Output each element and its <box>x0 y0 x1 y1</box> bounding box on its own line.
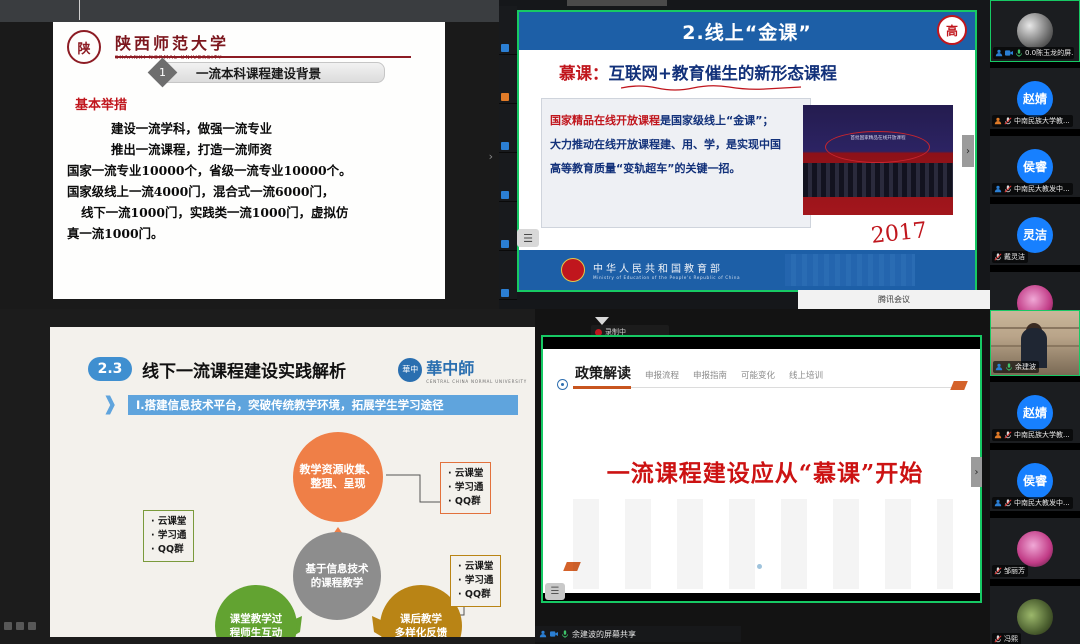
text-caret <box>79 0 80 20</box>
photo-crowd <box>803 163 953 197</box>
mic-muted-icon <box>1004 431 1012 439</box>
section-title: 一流本科课程建设背景 <box>196 63 321 82</box>
nav-item[interactable]: 申报流程 <box>645 369 679 381</box>
tool-item: 学习通 <box>448 481 483 495</box>
participant-name: 中南民族大学教... <box>1014 430 1070 440</box>
participant-name: 余建波 <box>1015 362 1036 372</box>
tool-box-orange: 云课堂 学习通 QQ群 <box>440 462 491 514</box>
screen-share-frame: 2.线上“金课” 高 慕课：互联网+教育催生的新形态课程 国家精品在线开放课程是… <box>517 10 977 292</box>
dropdown-caret-icon[interactable] <box>595 317 609 325</box>
circle-orange-line-2: 整理、呈现 <box>311 477 366 491</box>
nested-tile <box>499 55 517 104</box>
slide-body: 慕课：互联网+教育催生的新形态课程 国家精品在线开放课程是国家级线上“金课”； … <box>519 50 975 250</box>
circle-gray-line-1: 基于信息技术 <box>306 562 369 576</box>
mic-muted-icon <box>994 635 1002 643</box>
slide-marker-icon <box>557 379 568 390</box>
user-icon <box>501 44 509 52</box>
tool-item: QQ群 <box>151 543 186 557</box>
tool-item: QQ群 <box>448 495 483 509</box>
mooc-headline-prefix: 慕课： <box>559 64 609 83</box>
mic-icon <box>1005 363 1013 371</box>
avatar: 侯睿 <box>1017 149 1053 185</box>
participant-name: 0.0陈玉龙的屏... <box>1025 48 1074 58</box>
participant-nameplate: 余建波 <box>993 361 1039 373</box>
snnu-name-cn: 陕西师范大学 <box>115 30 229 54</box>
mic-muted-icon <box>994 567 1002 575</box>
body-line-6: 真一流1000门。 <box>67 223 435 244</box>
body-line-3: 国家一流专业10000个，省级一流专业10000个。 <box>67 160 435 181</box>
participant-rail-bottom[interactable]: 余建波 赵婧 中南民族大学教... 侯睿 中南民大教发中... <box>990 310 1080 644</box>
tencent-meeting-watermark: 腾讯会议 <box>798 290 990 309</box>
callout-rest-1: 是国家级线上“金课”； <box>660 114 773 127</box>
participant-nameplate: 中南民大教发中... <box>992 183 1073 195</box>
screen-share-frame: 政策解读 申报流程 申报指南 可能变化 线上培训 一流课程建设应从“慕课”开始 <box>541 335 982 603</box>
slide-bullet-dot <box>757 564 762 569</box>
participant-name: 中南民族大学教... <box>1014 116 1070 126</box>
circle-gray-line-2: 的课程教学 <box>311 576 364 590</box>
user-icon <box>501 191 509 199</box>
participant-tile[interactable]: 余建波 <box>990 310 1080 376</box>
avatar: 赵婧 <box>1017 81 1053 117</box>
window-chrome-strip <box>567 0 667 6</box>
shared-screen-bottom-left[interactable]: 2.3 线下一流课程建设实践解析 華中 華中師 CENTRAL CHINA NO… <box>0 309 535 644</box>
user-icon <box>539 630 547 638</box>
avatar: 侯睿 <box>1017 463 1053 499</box>
participant-nameplate: 戴灵洁 <box>992 251 1028 263</box>
participant-name: 中南民大教发中... <box>1014 498 1070 508</box>
nested-participant-strip <box>499 6 517 302</box>
participant-nameplate: 中南民大教发中... <box>992 497 1073 509</box>
tool-item: QQ群 <box>458 588 493 602</box>
share-status-bar: 余建波的屏幕共享 <box>535 626 741 642</box>
callout-highlight-1: 国家精品在线开放课程 <box>550 114 660 127</box>
circle-orange-line-1: 教学资源收集、 <box>300 463 377 477</box>
pause-icon[interactable] <box>16 622 24 630</box>
user-icon <box>501 289 509 297</box>
snnu-logo: 陕 <box>67 30 113 70</box>
user-icon-orange <box>994 117 1002 125</box>
background-watermark-graphic <box>573 499 953 589</box>
user-icon <box>994 185 1002 193</box>
avatar <box>1017 599 1053 635</box>
participant-name: 冯熙 <box>1004 634 1018 644</box>
snnu-seal-icon: 陕 <box>67 30 101 64</box>
shared-screen-bottom-right[interactable]: 录制中 政策解读 申报流程 申报指南 可能变化 线上培训 一流课程建设应从“慕课… <box>535 309 990 644</box>
slide-headline: 一流课程建设应从“慕课”开始 <box>565 454 965 488</box>
window-title-strip <box>0 0 499 22</box>
camera-icon <box>1005 49 1013 57</box>
body-line-4: 国家级线上一流4000门，混合式一流6000门， <box>67 181 435 202</box>
nested-tile <box>499 104 517 153</box>
avatar <box>1017 531 1053 567</box>
mic-muted-icon <box>1004 117 1012 125</box>
participant-tile[interactable]: 0.0陈玉龙的屏... <box>990 0 1080 62</box>
nested-tile <box>499 6 517 55</box>
nav-item[interactable]: 线上培训 <box>789 369 823 381</box>
section-number: 1 <box>159 66 166 79</box>
ministry-name-en: Ministry of Education of the People's Re… <box>593 275 740 280</box>
body-line-1: 建设一流学科，做强一流专业 <box>67 118 435 139</box>
nested-tile <box>499 153 517 202</box>
mic-icon <box>1015 49 1023 57</box>
ministry-building-graphic <box>785 254 915 286</box>
participant-nameplate: 0.0陈玉龙的屏... <box>993 47 1074 59</box>
meeting-screen: 陕 陕西师范大学 SHAANXI NORMAL UNIVERSITY 1 一流本… <box>0 0 1080 644</box>
share-toolbar-menu-icon[interactable]: ☰ <box>517 229 539 247</box>
participant-nameplate: 中南民族大学教... <box>992 115 1073 127</box>
avatar: 灵洁 <box>1017 217 1053 253</box>
diagram-circle-gray: 基于信息技术 的课程教学 <box>293 532 381 620</box>
user-icon <box>995 363 1003 371</box>
slide-heading: 基本举措 <box>75 94 127 113</box>
slide-nav: 政策解读 申报流程 申报指南 可能变化 线上培训 <box>575 363 823 383</box>
share-toolbar-menu-icon[interactable]: ☰ <box>545 583 565 600</box>
ceremony-photo: 首批国家精品在线开放课程 <box>803 105 953 215</box>
nav-item-active[interactable]: 政策解读 <box>575 363 631 383</box>
participant-tile[interactable]: 赵婧 中南民族大学教... <box>990 68 1080 130</box>
ministry-name-cn: 中华人民共和国教育部 <box>593 260 740 275</box>
nested-tile <box>499 202 517 251</box>
tool-item: 云课堂 <box>151 515 186 529</box>
callout-line-3: 高等教育质量“变轨超车”的关键一招。 <box>550 157 802 181</box>
avatar: 赵婧 <box>1017 395 1053 431</box>
accent-parallelogram-right <box>950 381 968 390</box>
tool-item: 云课堂 <box>458 560 493 574</box>
slide-footer: 中华人民共和国教育部 Ministry of Education of the … <box>519 250 975 290</box>
mooc-headline-rest: 互联网+教育催生的新形态课程 <box>609 64 837 83</box>
tool-box-green: 云课堂 学习通 QQ群 <box>143 510 194 562</box>
callout-textbox: 国家精品在线开放课程是国家级线上“金课”； 大力推动在线开放课程建、用、学，是实… <box>541 98 811 228</box>
national-emblem-icon <box>561 258 585 282</box>
circle-gold-line-1: 课后教学 <box>400 612 442 626</box>
participant-name: 邹丽芳 <box>1004 566 1025 576</box>
mic-muted-icon <box>1004 499 1012 507</box>
underline-squiggle-icon <box>621 84 801 91</box>
next-slide-chevron-icon[interactable]: › <box>489 150 493 163</box>
nested-tile <box>499 251 517 300</box>
photo-caption: 首批国家精品在线开放课程 <box>831 135 925 143</box>
circle-green-line-1: 课堂教学过 <box>230 612 283 626</box>
snnu-divider <box>115 56 411 58</box>
participant-tile[interactable]: 侯睿 中南民大教发中... <box>990 450 1080 512</box>
circle-gold-line-2: 多样化反馈 <box>395 626 448 637</box>
shared-screen-top-right[interactable]: 2.线上“金课” 高 慕课：互联网+教育催生的新形态课程 国家精品在线开放课程是… <box>499 0 990 309</box>
slide-ccnu: 2.3 线下一流课程建设实践解析 華中 華中師 CENTRAL CHINA NO… <box>50 327 535 637</box>
tool-item: 学习通 <box>151 529 186 543</box>
camera-icon <box>550 630 558 638</box>
mooc-headline: 慕课：互联网+教育催生的新形态课程 <box>559 60 837 84</box>
user-icon <box>501 240 509 248</box>
nav-item[interactable]: 申报指南 <box>693 369 727 381</box>
participant-name: 中南民大教发中... <box>1014 184 1070 194</box>
slide-snnu: 陕 陕西师范大学 SHAANXI NORMAL UNIVERSITY 1 一流本… <box>53 22 445 299</box>
tool-box-gold: 云课堂 学习通 QQ群 <box>450 555 501 607</box>
participant-nameplate: 冯熙 <box>992 633 1021 644</box>
next-slide-chevron-icon[interactable]: › <box>962 135 974 167</box>
user-icon <box>995 49 1003 57</box>
playback-controls[interactable] <box>4 622 36 630</box>
mic-muted-icon <box>1004 185 1012 193</box>
stop-icon[interactable] <box>4 622 12 630</box>
mic-muted-icon <box>994 253 1002 261</box>
tool-item: 云课堂 <box>448 467 483 481</box>
shared-screen-top-left[interactable]: 陕 陕西师范大学 SHAANXI NORMAL UNIVERSITY 1 一流本… <box>0 0 499 309</box>
user-icon-orange <box>501 93 509 101</box>
slide-policy: 政策解读 申报流程 申报指南 可能变化 线上培训 一流课程建设应从“慕课”开始 <box>543 349 980 593</box>
user-icon <box>994 499 1002 507</box>
slide-body: 建设一流学科，做强一流专业 推出一流课程，打造一流师资 国家一流专业10000个… <box>67 118 435 244</box>
participant-name: 戴灵洁 <box>1004 252 1025 262</box>
ministry-text: 中华人民共和国教育部 Ministry of Education of the … <box>593 260 740 280</box>
participant-tile[interactable]: 灵洁 戴灵洁 <box>990 204 1080 266</box>
participant-nameplate: 中南民族大学教... <box>992 429 1073 441</box>
nav-underline <box>573 387 959 388</box>
user-icon-orange <box>994 431 1002 439</box>
section-number-diamond: 1 <box>148 58 178 88</box>
mic-icon <box>561 630 569 638</box>
participant-tile[interactable]: 冯熙 <box>990 586 1080 644</box>
callout-line-1: 国家精品在线开放课程是国家级线上“金课”； <box>550 109 802 133</box>
body-line-2: 推出一流课程，打造一流师资 <box>67 139 435 160</box>
share-status-label: 余建波的屏幕共享 <box>572 629 636 640</box>
body-line-5: 线下一流1000门，实践类一流1000门，虚拟仿 <box>67 202 435 223</box>
user-icon <box>501 142 509 150</box>
participant-tile[interactable]: 赵婧 中南民族大学教... <box>990 382 1080 444</box>
handwritten-year: 2017 <box>870 218 928 249</box>
next-slide-chevron-icon[interactable]: › <box>971 457 982 487</box>
tool-item: 学习通 <box>458 574 493 588</box>
participant-nameplate: 邹丽芳 <box>992 565 1028 577</box>
circle-green-line-2: 程师生互动 <box>230 626 283 637</box>
participant-tile[interactable]: 侯睿 中南民大教发中... <box>990 136 1080 198</box>
record-icon[interactable] <box>28 622 36 630</box>
participant-tile[interactable]: 邹丽芳 <box>990 518 1080 580</box>
slide-header: 2.线上“金课” 高 <box>519 12 975 50</box>
diagram-circle-orange: 教学资源收集、 整理、呈现 <box>293 432 383 522</box>
callout-line-2: 大力推动在线开放课程建、用、学，是实现中国 <box>550 133 802 157</box>
avatar <box>1017 13 1053 49</box>
institution-badge-icon: 高 <box>937 15 967 45</box>
nav-item[interactable]: 可能变化 <box>741 369 775 381</box>
slide-title: 2.线上“金课” <box>682 18 811 45</box>
section-banner: 1 一流本科课程建设背景 <box>163 62 385 83</box>
nav-underline-active <box>573 386 631 389</box>
participant-rail-top[interactable]: 0.0陈玉龙的屏... 赵婧 中南民族大学教... 侯睿 中南民大教发中... … <box>990 0 1080 310</box>
